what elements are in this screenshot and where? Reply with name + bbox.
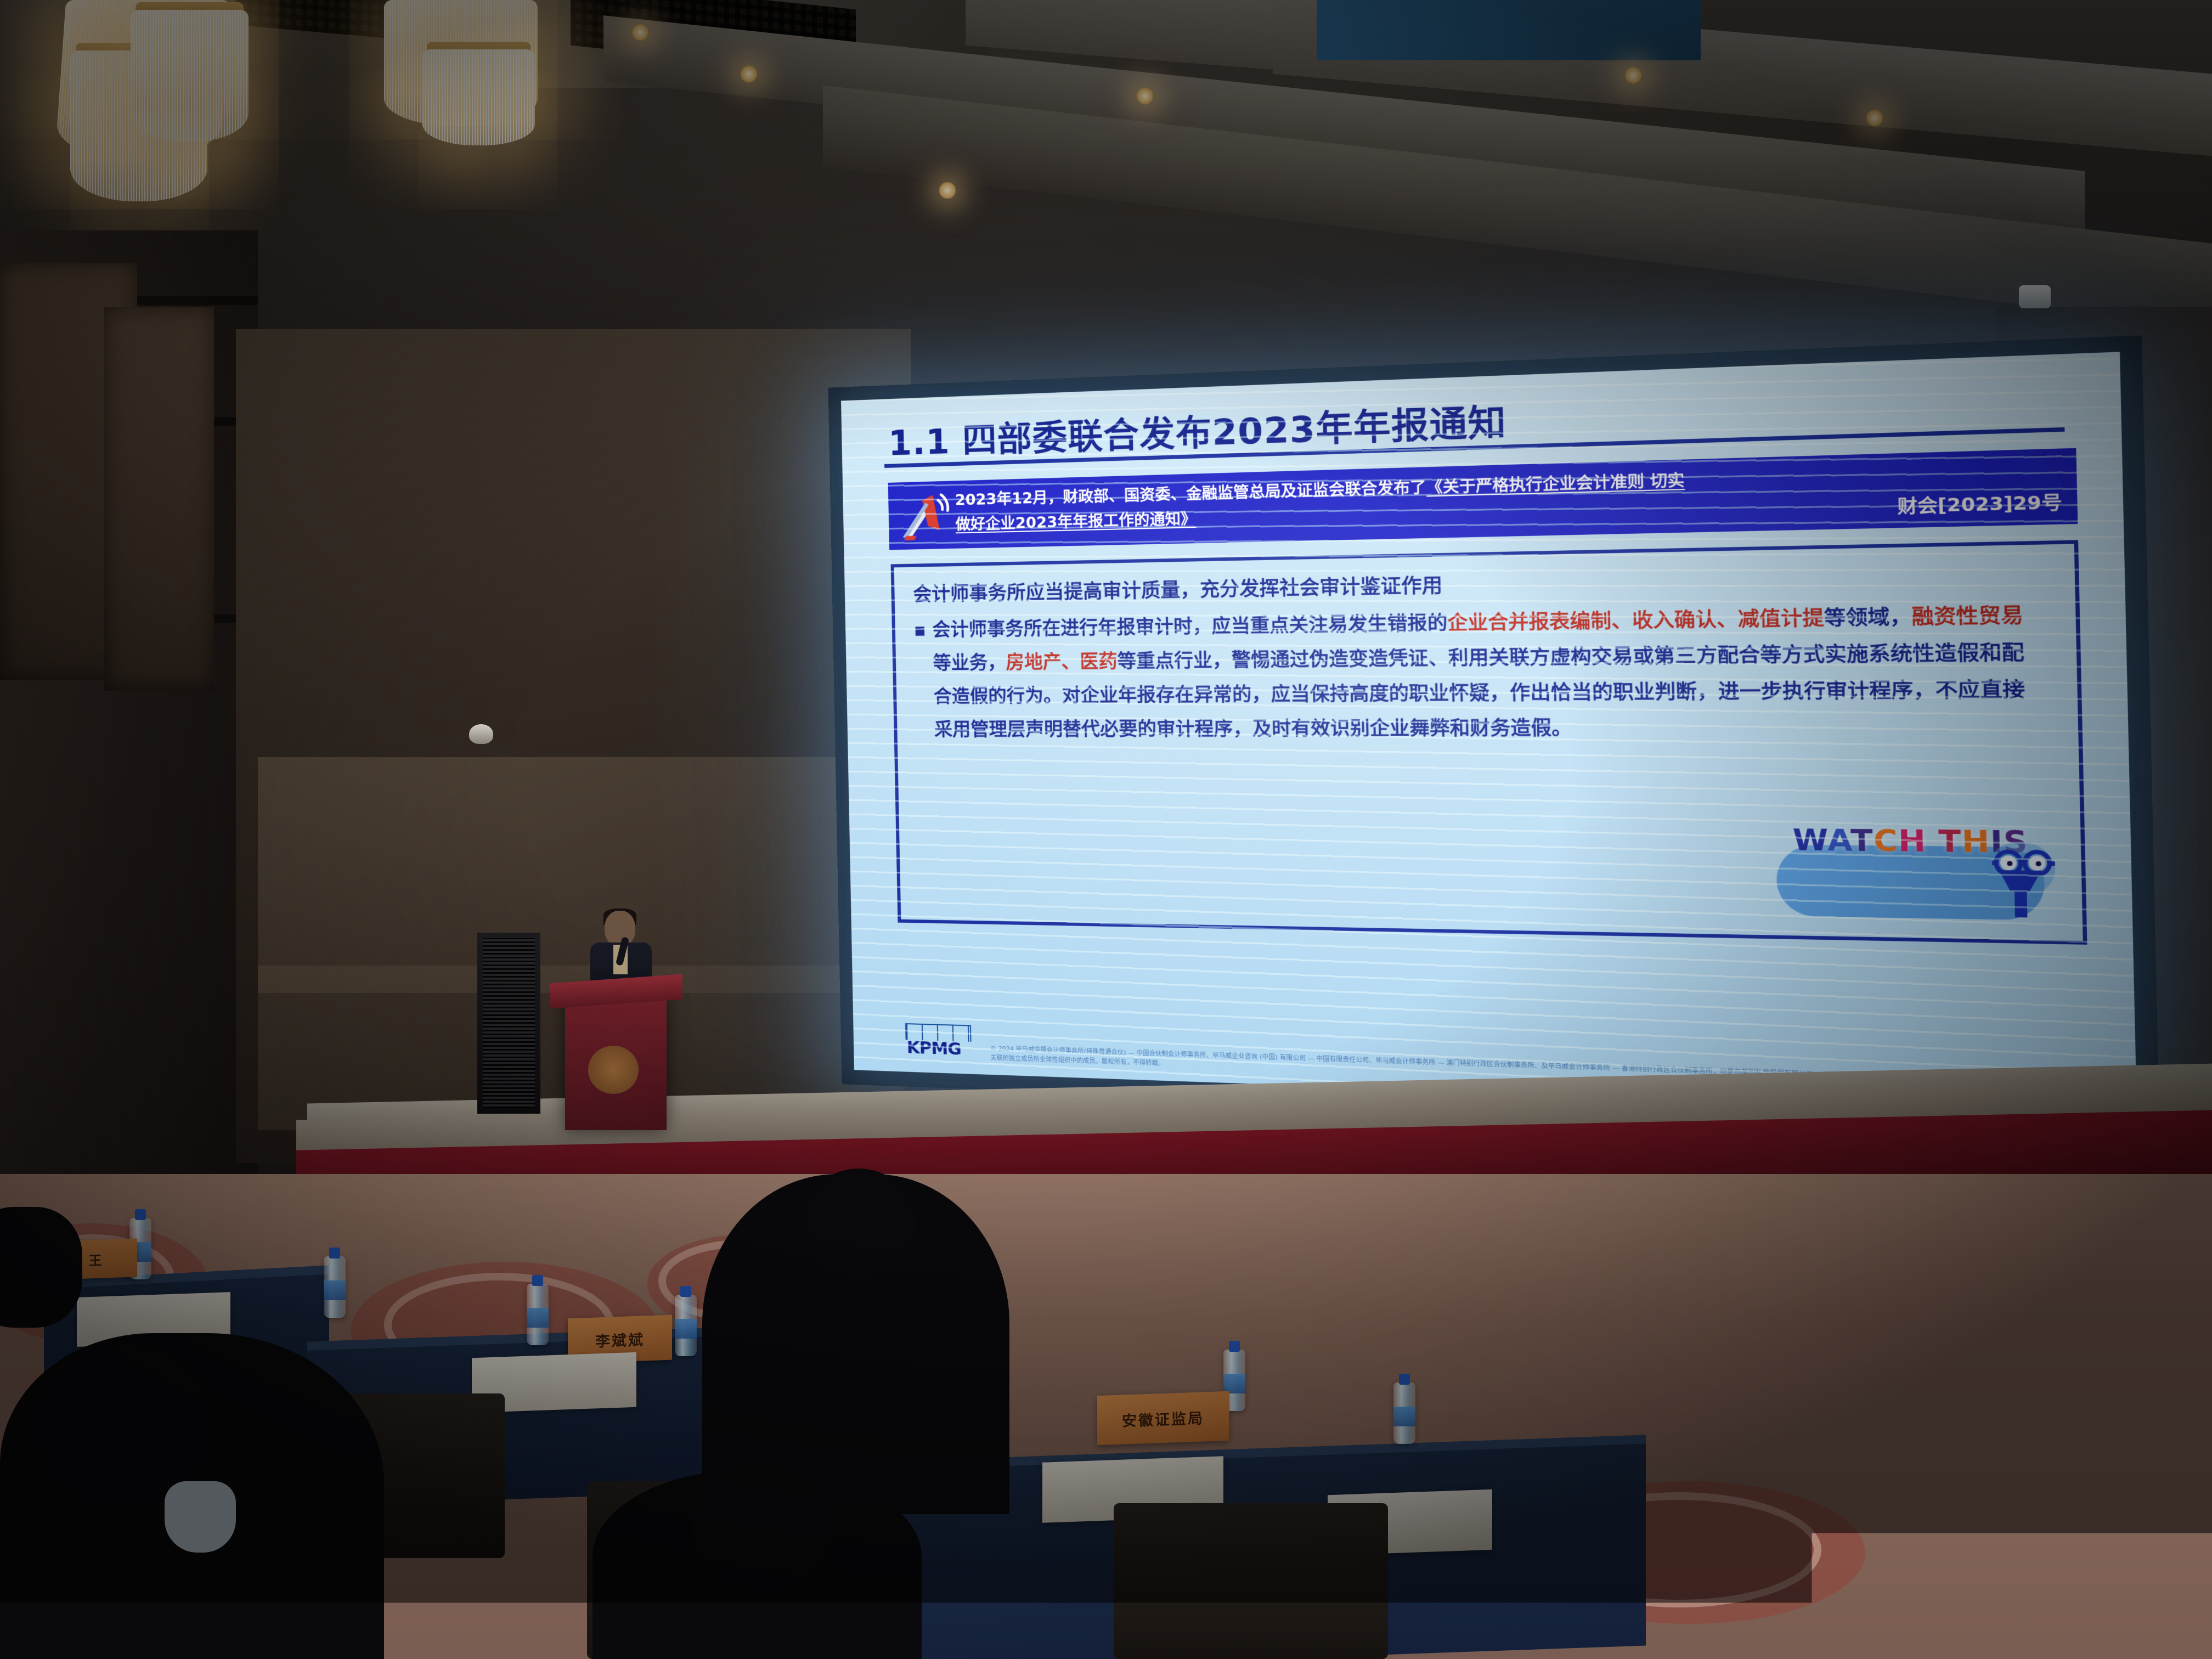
ceiling-downlight: [1865, 109, 1884, 127]
kpmg-wordmark: KPMG: [907, 1037, 962, 1059]
water-bottle: [1393, 1383, 1415, 1444]
wood-wall-panel: [104, 307, 214, 691]
ceiling-downlight: [1624, 66, 1643, 84]
kpmg-logo: KPMG: [905, 1023, 972, 1057]
banner-text: 2023年12月，财政部、国资委、金融监管总局及证监会联合发布了《关于严格执行企…: [955, 463, 1862, 538]
conference-hall-photo: 1.1 四部委联合发布2023年年报通知 2023年12月，财政部、国资委、金融…: [0, 0, 2212, 1659]
podium: [565, 993, 667, 1130]
highlighted-term: 房地产、医药: [1006, 650, 1118, 673]
water-bottle: [324, 1256, 346, 1318]
banner-doc-title-part1: 《关于严格执行企业会计准则 切实: [1426, 471, 1685, 496]
chandelier: [131, 10, 249, 142]
name-card: 安徽证监局: [1097, 1391, 1229, 1445]
content-body: ▪ 会计师事务所在进行年报审计时，应当重点关注易发生错报的企业合并报表编制、收入…: [913, 597, 2042, 746]
ceiling-skylight: [1317, 0, 1701, 60]
watch-this-graphic: WATCH THIS: [1769, 810, 2059, 929]
banner-line1: 2023年12月，财政部、国资委、金融监管总局及证监会联合发布了: [955, 479, 1426, 509]
wall-sensor: [2019, 285, 2051, 308]
audience-member-hand: [0, 1207, 82, 1328]
chair: [1114, 1503, 1388, 1659]
body-run: 会计师事务所在进行年报审计时，应当重点关注易发生错报的: [932, 611, 1448, 640]
audience-member: [592, 1470, 922, 1659]
content-box: 会计师事务所应当提高审计质量，充分发挥社会审计鉴证作用 ▪ 会计师事务所在进行年…: [891, 540, 2087, 944]
cartoon-figure-icon: [1978, 832, 2062, 919]
ceiling: [0, 0, 2212, 384]
megaphone-icon: [898, 490, 951, 541]
body-run: 等业务，: [933, 651, 1006, 674]
body-text: 会计师事务所在进行年报审计时，应当重点关注易发生错报的企业合并报表编制、收入确认…: [932, 603, 2025, 740]
led-presentation-screen: 1.1 四部委联合发布2023年年报通知 2023年12月，财政部、国资委、金融…: [841, 352, 2137, 1114]
podium-emblem: [588, 1046, 639, 1094]
audience-member: [702, 1174, 1009, 1514]
stone-wall-panel: [258, 757, 905, 993]
banner-doc-title-part2: 做好企业2023年年报工作的通知》: [955, 510, 1196, 533]
ceiling-downlight: [938, 181, 957, 200]
content-heading: 会计师事务所应当提高审计质量，充分发挥社会审计鉴证作用: [913, 569, 1443, 606]
presenter-head: [605, 911, 635, 947]
ceiling-camera: [469, 724, 493, 744]
chandelier: [422, 49, 535, 145]
pa-speaker-cabinet: [477, 933, 540, 1114]
ceiling-downlight: [1136, 87, 1154, 105]
audience-member: [0, 1333, 384, 1659]
highlighted-term: 企业合并报表编制、收入确认、减值计提: [1447, 606, 1824, 634]
body-run: 等领域，: [1824, 605, 1912, 629]
ceiling-downlight: [740, 65, 758, 83]
document-number: 财会[2023]29号: [1897, 487, 2062, 518]
slide: 1.1 四部委联合发布2023年年报通知 2023年12月，财政部、国资委、金融…: [841, 352, 2137, 1114]
water-bottle: [527, 1284, 549, 1345]
slide-banner: 2023年12月，财政部、国资委、金融监管总局及证监会联合发布了《关于严格执行企…: [888, 448, 2078, 550]
water-bottle: [675, 1295, 697, 1356]
ceiling-downlight: [631, 23, 650, 42]
bullet-marker: ▪: [913, 619, 926, 641]
highlighted-term: 融资性贸易: [1911, 603, 2024, 628]
